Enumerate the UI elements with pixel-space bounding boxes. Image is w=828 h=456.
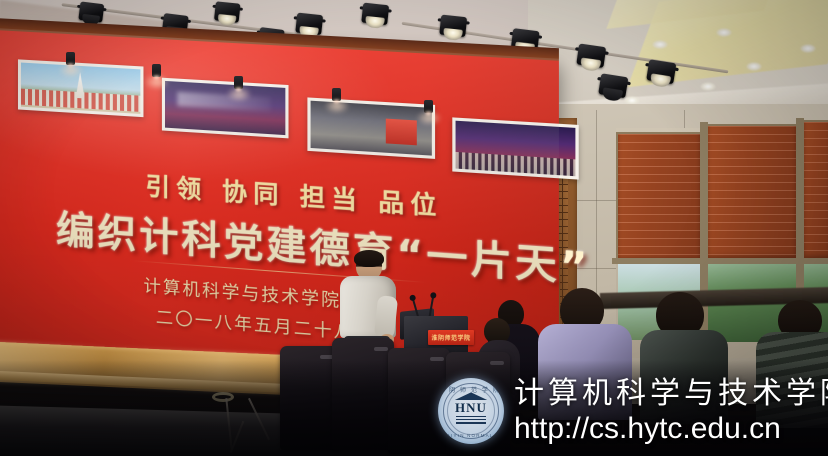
window-blind xyxy=(802,120,828,260)
banner-photo xyxy=(307,97,435,159)
downlight xyxy=(746,62,762,71)
seal-initials: HNU xyxy=(455,401,487,414)
seal-roof-shape xyxy=(454,392,488,400)
wall-washer-light xyxy=(424,100,433,113)
stage-light xyxy=(439,15,469,42)
downlight xyxy=(700,82,716,91)
window-mullion xyxy=(612,258,828,264)
speaker-hair xyxy=(354,250,384,267)
cable-coil xyxy=(212,392,234,402)
wall-washer-light xyxy=(152,64,161,77)
stage-light xyxy=(576,43,609,72)
downlight xyxy=(652,40,668,49)
banner-photo xyxy=(162,78,289,139)
watermark-org-name: 计算机科学与技术学院 xyxy=(514,379,828,409)
banner-photo xyxy=(18,59,143,117)
seal-book-shape xyxy=(456,415,486,424)
wall-washer-light xyxy=(66,52,75,65)
stage-light xyxy=(361,3,391,30)
watermark-url: http://cs.hytc.edu.cn xyxy=(514,414,828,444)
stage-light xyxy=(646,59,679,88)
window-blind xyxy=(706,124,798,260)
photo-scene: 引领 协同 担当 品位 编织计科党建德育“一片天” 计算机科学与技术学院党委 二… xyxy=(0,0,828,456)
wall-washer-light xyxy=(332,88,341,101)
banner-photo xyxy=(452,117,578,179)
window-blind xyxy=(616,132,702,262)
university-seal-logo: 淮阴师范学院 HNU HUAIYIN NORMAL UNIVERSITY xyxy=(438,378,504,444)
watermark-text-block: 计算机科学与技术学院 http://cs.hytc.edu.cn xyxy=(514,379,828,444)
seal-emblem: HNU xyxy=(451,391,491,425)
downlight xyxy=(716,28,732,37)
auditorium-chair xyxy=(280,346,340,450)
seal-english-arc-text: HUAIYIN NORMAL UNIVERSITY xyxy=(438,433,504,438)
banner-photo-strip xyxy=(12,59,546,180)
watermark: 淮阴师范学院 HNU HUAIYIN NORMAL UNIVERSITY 计算机… xyxy=(438,378,828,444)
wall-washer-light xyxy=(234,76,243,89)
downlight xyxy=(800,44,816,53)
stage-light xyxy=(214,1,243,26)
auditorium-chair xyxy=(332,338,394,450)
